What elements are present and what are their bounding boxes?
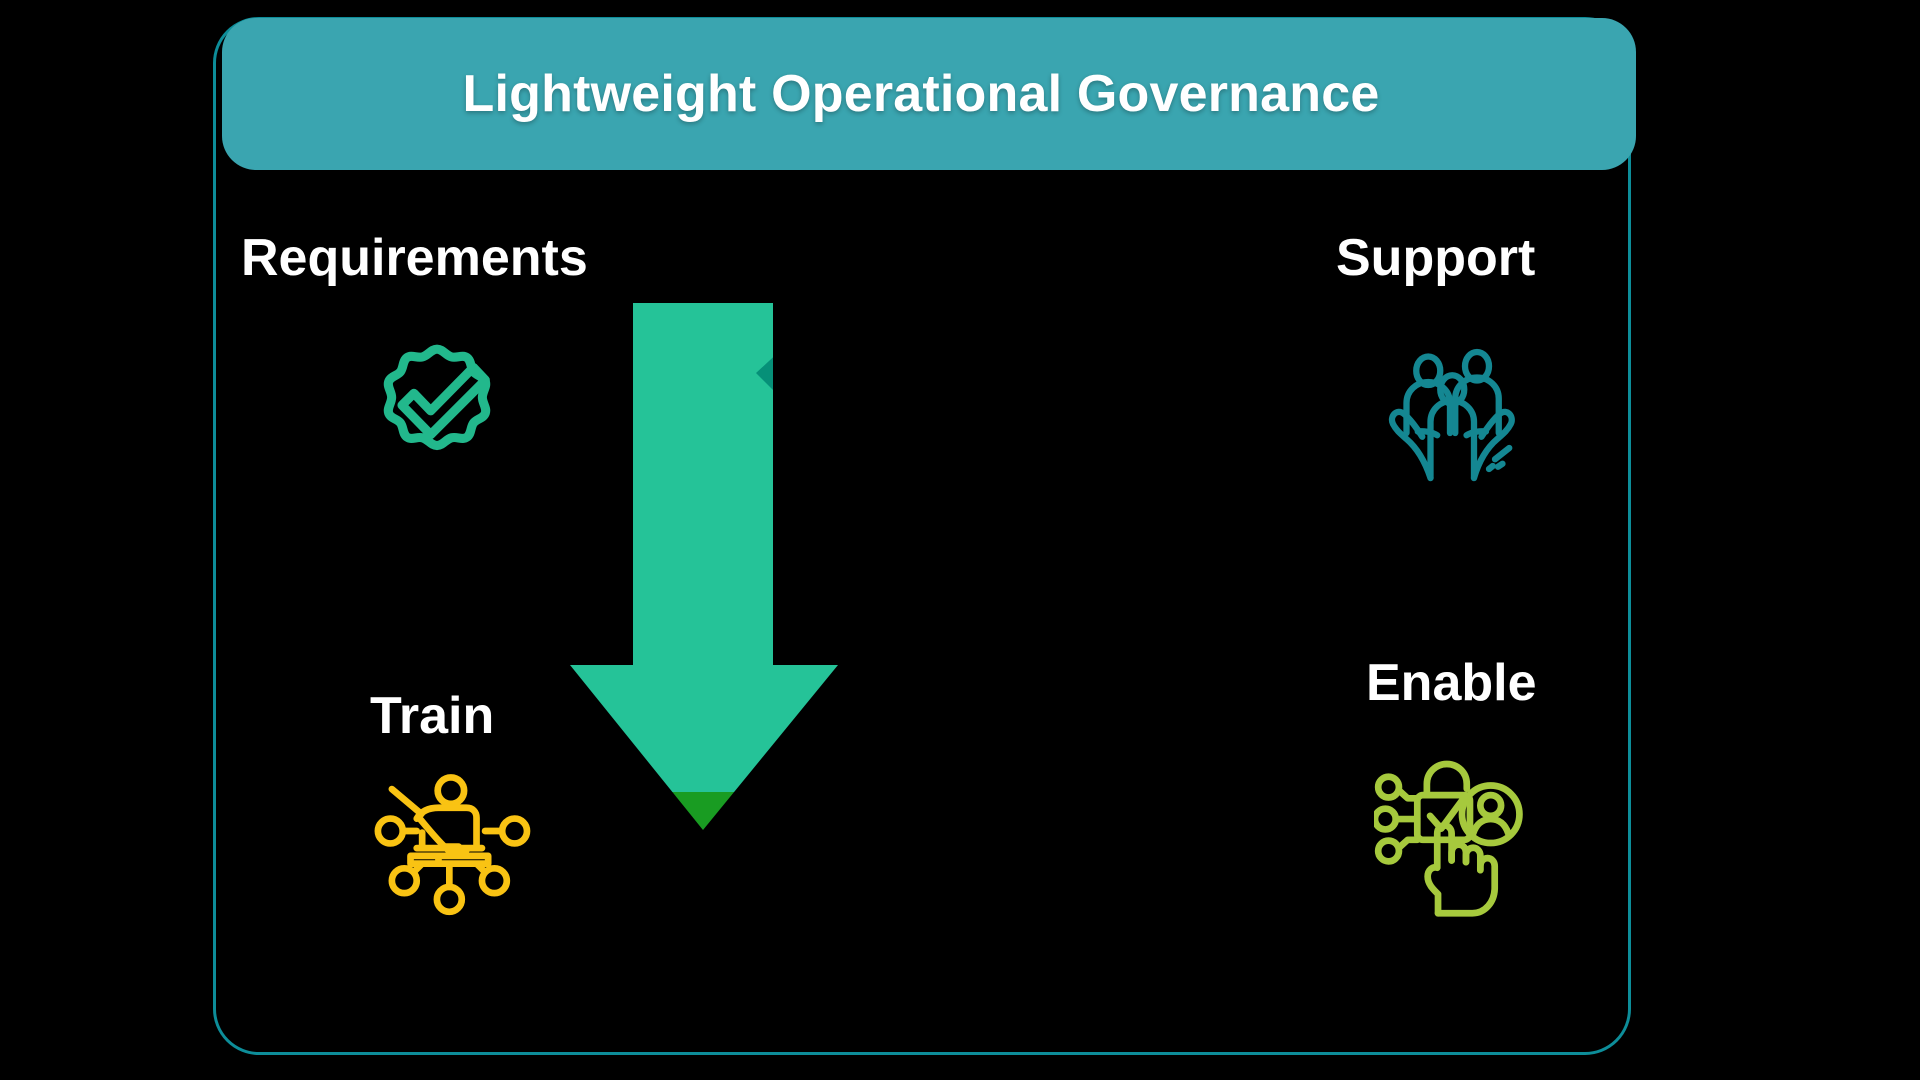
quadrant-label-requirements: Requirements (241, 232, 588, 284)
slide-canvas: Lightweight Operational Governance (0, 0, 1920, 1080)
page-title: Lightweight Operational Governance (463, 64, 1380, 124)
hands-holding-people-icon (1384, 340, 1534, 490)
title-bar: Lightweight Operational Governance (222, 18, 1636, 170)
quadrant-label-support: Support (1336, 232, 1535, 284)
cycle-diagram (548, 205, 1372, 1030)
quadrant-label-enable: Enable (1366, 657, 1537, 709)
quadrant-label-train: Train (370, 690, 494, 742)
instructor-presentation-network-icon (374, 772, 534, 918)
verified-badge-check-icon (362, 338, 512, 478)
unlock-access-hand-user-icon (1374, 760, 1534, 926)
